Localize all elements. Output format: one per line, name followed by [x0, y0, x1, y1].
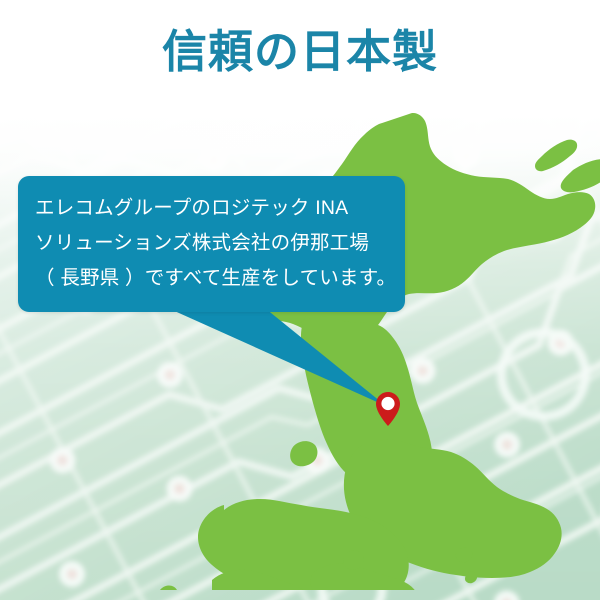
page-title: 信頼の日本製 — [0, 24, 600, 80]
callout-line-1: エレコムグループのロジテック INA — [35, 191, 395, 226]
island-tsushima — [156, 586, 179, 590]
promo-banner: 信頼の日本製 — [0, 0, 600, 600]
callout-text: エレコムグループのロジテック INA ソリューションズ株式会社の伊那工場 （ 長… — [35, 191, 395, 296]
island-kunashiri — [535, 140, 577, 172]
pin-dot — [381, 397, 394, 410]
callout-bubble: エレコムグループのロジテック INA ソリューションズ株式会社の伊那工場 （ 長… — [18, 176, 405, 312]
island-shiretoko — [561, 159, 600, 192]
island-sado — [290, 441, 317, 466]
callout-line-3: （ 長野県 ）ですべて生産をしています。 — [35, 261, 395, 296]
callout-line-2: ソリューションズ株式会社の伊那工場 — [35, 226, 395, 261]
location-pin-icon[interactable] — [376, 392, 400, 426]
